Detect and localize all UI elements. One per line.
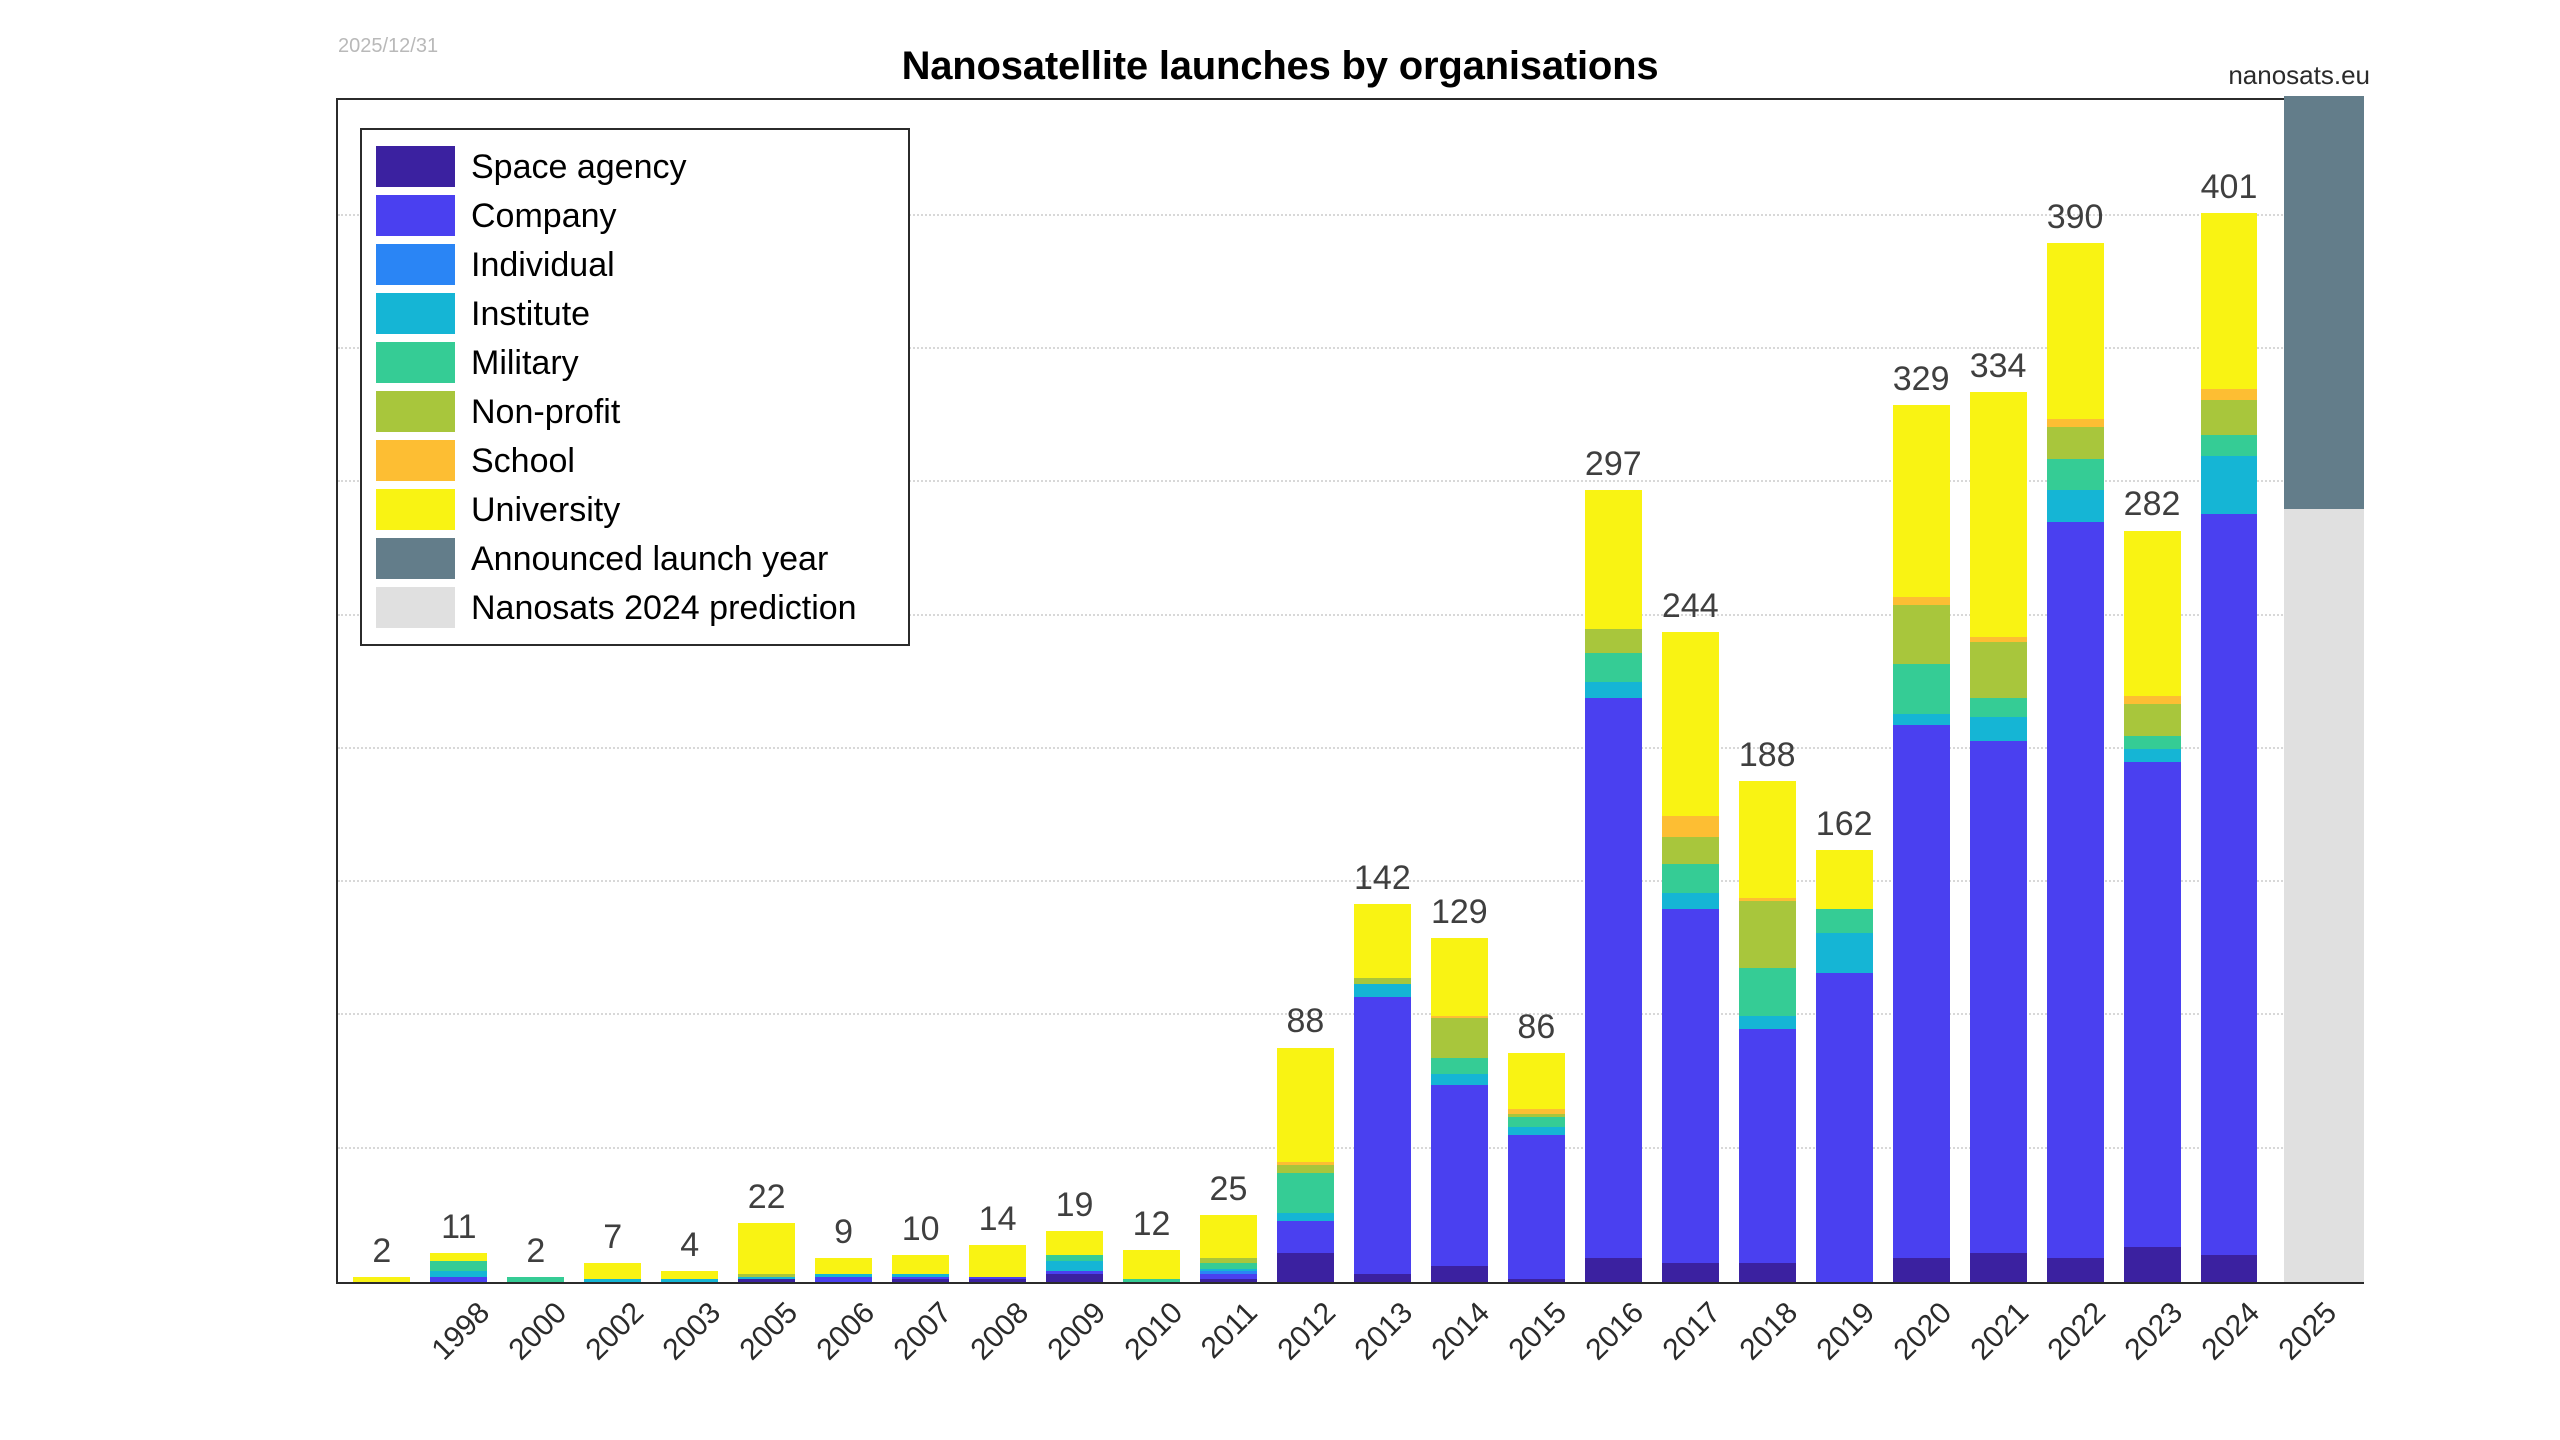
segment-university [1431, 938, 1488, 1015]
x-tick-label-2003: 2003 [656, 1296, 727, 1367]
x-tick-label-2020: 2020 [1888, 1296, 1959, 1367]
segment-institute [584, 1279, 641, 1282]
bar-2005[interactable] [661, 1271, 718, 1282]
chart-root: Nanosatellite launches by organisations … [0, 0, 2560, 1440]
bar-2018[interactable] [1662, 632, 1719, 1282]
segment-institute [1585, 682, 1642, 698]
segment-institute [1508, 1127, 1565, 1135]
x-tick-label-2013: 2013 [1349, 1296, 1420, 1367]
segment-space-agency [1585, 1258, 1642, 1282]
segment-university [1662, 632, 1719, 816]
segment-military [1970, 698, 2027, 717]
bar-total-label: 22 [748, 1178, 786, 1217]
segment-company [1893, 725, 1950, 1258]
legend-item-institute[interactable]: Institute [376, 289, 894, 338]
x-tick-label-2008: 2008 [964, 1296, 1035, 1367]
segment-university [2201, 213, 2258, 389]
legend-label: Individual [471, 248, 615, 282]
bar-total-label: 188 [1739, 736, 1796, 775]
bar-total-label: 14 [979, 1200, 1017, 1239]
segment-non-profit [1739, 901, 1796, 968]
bar-2003[interactable] [584, 1263, 641, 1282]
x-tick-label-2012: 2012 [1272, 1296, 1343, 1367]
segment-military [1739, 968, 1796, 1016]
x-tick-label-2023: 2023 [2119, 1296, 2190, 1367]
segment-university [1893, 405, 1950, 597]
bar-total-label: 4 [680, 1226, 699, 1265]
segment-company [1585, 698, 1642, 1258]
segment-space-agency [738, 1279, 795, 1282]
bar-2000[interactable] [430, 1253, 487, 1282]
segment-company [1662, 909, 1719, 1263]
segment-space-agency [1277, 1253, 1334, 1282]
legend-swatch-icon [376, 146, 455, 187]
segment-military [1123, 1279, 1180, 1282]
bar-total-label: 2 [372, 1232, 391, 1271]
legend-item-company[interactable]: Company [376, 191, 894, 240]
bar-total-label: 282 [2124, 485, 2181, 524]
bar-total-label: 12 [1133, 1205, 1171, 1244]
segment-non-profit [1431, 1018, 1488, 1058]
segment-university [1739, 781, 1796, 898]
bar-total-label: 7 [603, 1218, 622, 1257]
bar-total-label: 390 [2047, 198, 2104, 237]
segment-company [1431, 1085, 1488, 1266]
x-tick-label-2011: 2011 [1194, 1296, 1264, 1366]
bar-2008[interactable] [892, 1255, 949, 1282]
bar-total-label: 297 [1585, 445, 1642, 484]
bar-2025[interactable] [2201, 213, 2258, 1282]
legend-label: University [471, 493, 620, 527]
segment-space-agency [1354, 1274, 1411, 1282]
segment-university [1508, 1053, 1565, 1109]
legend-item-individual[interactable]: Individual [376, 240, 894, 289]
legend-swatch-icon [376, 244, 455, 285]
x-tick-label-2018: 2018 [1734, 1296, 1805, 1367]
segment-space-agency [1200, 1279, 1257, 1282]
segment-institute [1970, 717, 2027, 741]
segment-company [815, 1277, 872, 1282]
segment-space-agency [1970, 1253, 2027, 1282]
segment-space-agency [1046, 1274, 1103, 1282]
y-axis: Nanosatellites 050100150200250300350400 [0, 0, 336, 1440]
bar-total-label: 2 [526, 1232, 545, 1271]
segment-school [1662, 816, 1719, 837]
segment-school [2047, 419, 2104, 427]
segment-university [2047, 243, 2104, 419]
segment-institute [1354, 984, 1411, 997]
legend-item-military[interactable]: Military [376, 338, 894, 387]
segment-non-profit [1662, 837, 1719, 864]
segment-university [584, 1263, 641, 1279]
x-tick-label-2022: 2022 [2042, 1296, 2113, 1367]
bar-total-label: 25 [1210, 1170, 1248, 1209]
x-tick-label-2006: 2006 [810, 1296, 881, 1367]
bar-total-label: 334 [1970, 347, 2027, 386]
segment-military [1816, 909, 1873, 933]
bar-total-label: 162 [1816, 805, 1873, 844]
segment-university [2124, 531, 2181, 696]
segment-military [2201, 435, 2258, 456]
segment-institute [2124, 749, 2181, 762]
bar-1998[interactable] [353, 1277, 410, 1282]
segment-institute [1816, 933, 1873, 973]
segment-non-profit [1970, 642, 2027, 698]
bar-total-label: 19 [1056, 1186, 1094, 1225]
segment-school [1893, 597, 1950, 605]
legend-swatch-icon [376, 391, 455, 432]
bar-2010[interactable] [1046, 1231, 1103, 1282]
segment-non-profit [2201, 400, 2258, 435]
x-tick-label-2005: 2005 [733, 1296, 804, 1367]
bar-total-label: 88 [1287, 1002, 1325, 1041]
segment-military [507, 1277, 564, 1282]
bar-2011[interactable] [1123, 1250, 1180, 1282]
segment-company [2201, 514, 2258, 1255]
segment-non-profit [2047, 427, 2104, 459]
segment-institute [2201, 456, 2258, 515]
segment-military [2047, 459, 2104, 491]
segment-university [1816, 850, 1873, 909]
legend-swatch-icon [376, 538, 455, 579]
segment-company [1354, 997, 1411, 1274]
legend-label: Non-profit [471, 395, 620, 429]
segment-university [1046, 1231, 1103, 1255]
x-tick-label-2017: 2017 [1657, 1296, 1728, 1367]
bar-2016[interactable] [1508, 1053, 1565, 1282]
segment-university [1123, 1250, 1180, 1279]
legend-swatch-icon [376, 342, 455, 383]
segment-university [1585, 490, 1642, 629]
segment-university [1970, 392, 2027, 637]
x-tick-label-1998: 1998 [425, 1296, 496, 1367]
x-tick-label-2014: 2014 [1426, 1296, 1497, 1367]
bar-2024[interactable] [2124, 531, 2181, 1283]
bar-2015[interactable] [1431, 938, 1488, 1282]
bar-2020[interactable] [1816, 850, 1873, 1282]
segment-space-agency [892, 1279, 949, 1282]
announced-launch-year-column [2284, 96, 2364, 509]
segment-company [1277, 1221, 1334, 1253]
x-axis: 1998200020022003200520062007200820092010… [336, 1290, 2364, 1440]
segment-military [2124, 736, 2181, 749]
segment-school [2124, 696, 2181, 704]
bar-total-label: 129 [1431, 893, 1488, 932]
segment-university [815, 1258, 872, 1274]
segment-company [1816, 973, 1873, 1282]
segment-military [1585, 653, 1642, 682]
segment-space-agency [1508, 1279, 1565, 1282]
segment-university [661, 1271, 718, 1279]
segment-university [892, 1255, 949, 1274]
bar-2007[interactable] [815, 1258, 872, 1282]
segment-institute [661, 1279, 718, 1282]
x-tick-label-2021: 2021 [1965, 1296, 2036, 1367]
segment-university [738, 1223, 795, 1274]
legend-label: Announced launch year [471, 542, 828, 576]
segment-institute [1893, 714, 1950, 725]
legend-item-nanosats-2024-prediction[interactable]: Nanosats 2024 prediction [376, 583, 894, 632]
bar-total-label: 10 [902, 1210, 940, 1249]
x-tick-label-2019: 2019 [1811, 1296, 1882, 1367]
segment-company [430, 1277, 487, 1282]
segment-institute [1277, 1213, 1334, 1221]
segment-company [1739, 1029, 1796, 1264]
segment-space-agency [2124, 1247, 2181, 1282]
segment-space-agency [2047, 1258, 2104, 1282]
segment-university [430, 1253, 487, 1261]
watermark-nanosats: nanosats.eu [2228, 60, 2370, 91]
legend-item-announced-launch-year[interactable]: Announced launch year [376, 534, 894, 583]
segment-military [430, 1261, 487, 1272]
segment-institute [1046, 1261, 1103, 1272]
segment-space-agency [1893, 1258, 1950, 1282]
segment-institute [1739, 1016, 1796, 1029]
segment-space-agency [1431, 1266, 1488, 1282]
segment-space-agency [2201, 1255, 2258, 1282]
x-tick-label-2025: 2025 [2273, 1296, 2344, 1367]
segment-university [1354, 904, 1411, 979]
legend-label: Company [471, 199, 617, 233]
x-tick-label-2010: 2010 [1118, 1296, 1189, 1367]
nanosats-prediction-column [2284, 509, 2364, 1282]
legend-item-space-agency[interactable]: Space agency [376, 142, 894, 191]
bar-total-label: 244 [1662, 587, 1719, 626]
segment-company [1970, 741, 2027, 1253]
segment-school [2201, 389, 2258, 400]
date-stamp: 2025/12/31 [338, 35, 438, 58]
x-tick-label-2024: 2024 [2196, 1296, 2267, 1367]
segment-university [969, 1245, 1026, 1277]
legend: Space agencyCompanyIndividualInstituteMi… [360, 128, 910, 646]
legend-swatch-icon [376, 489, 455, 530]
bar-total-label: 11 [441, 1208, 476, 1247]
segment-military [1893, 664, 1950, 715]
bar-2021[interactable] [1893, 405, 1950, 1282]
segment-space-agency [1662, 1263, 1719, 1282]
bar-2002[interactable] [507, 1277, 564, 1282]
legend-swatch-icon [376, 587, 455, 628]
segment-university [1200, 1215, 1257, 1258]
x-tick-label-2007: 2007 [887, 1296, 958, 1367]
segment-company [1508, 1135, 1565, 1279]
segment-company [2047, 522, 2104, 1258]
segment-institute [2047, 490, 2104, 522]
segment-non-profit [1277, 1165, 1334, 1173]
legend-label: School [471, 444, 575, 478]
bar-total-label: 9 [834, 1213, 853, 1252]
bar-total-label: 401 [2201, 168, 2258, 207]
bar-2013[interactable] [1277, 1048, 1334, 1282]
segment-military [1431, 1058, 1488, 1074]
bar-total-label: 329 [1893, 360, 1950, 399]
segment-non-profit [1585, 629, 1642, 653]
legend-swatch-icon [376, 293, 455, 334]
x-tick-label-2015: 2015 [1503, 1296, 1574, 1367]
bar-2014[interactable] [1354, 904, 1411, 1282]
segment-space-agency [969, 1279, 1026, 1282]
segment-military [1508, 1117, 1565, 1128]
legend-item-university[interactable]: University [376, 485, 894, 534]
segment-military [1662, 864, 1719, 893]
segment-non-profit [1893, 605, 1950, 664]
legend-item-school[interactable]: School [376, 436, 894, 485]
bar-2006[interactable] [738, 1223, 795, 1282]
legend-label: Space agency [471, 150, 687, 184]
legend-item-non-profit[interactable]: Non-profit [376, 387, 894, 436]
segment-university [353, 1277, 410, 1282]
x-tick-label-2002: 2002 [579, 1296, 650, 1367]
segment-military [1277, 1173, 1334, 1213]
x-tick-label-2016: 2016 [1580, 1296, 1651, 1367]
bar-2019[interactable] [1739, 781, 1796, 1282]
x-tick-label-2000: 2000 [502, 1296, 573, 1367]
segment-company [2124, 762, 2181, 1247]
legend-swatch-icon [376, 195, 455, 236]
bar-total-label: 142 [1354, 859, 1411, 898]
legend-label: Nanosats 2024 prediction [471, 591, 857, 625]
bar-2009[interactable] [969, 1245, 1026, 1282]
legend-label: Military [471, 346, 579, 380]
segment-institute [1431, 1074, 1488, 1085]
bar-2022[interactable] [1970, 392, 2027, 1282]
x-tick-label-2009: 2009 [1041, 1296, 1112, 1367]
bar-total-label: 86 [1517, 1008, 1555, 1047]
legend-label: Institute [471, 297, 590, 331]
segment-space-agency [1739, 1263, 1796, 1282]
segment-institute [1662, 893, 1719, 909]
bar-2017[interactable] [1585, 490, 1642, 1282]
bar-2012[interactable] [1200, 1215, 1257, 1282]
segment-non-profit [2124, 704, 2181, 736]
legend-swatch-icon [376, 440, 455, 481]
bar-2023[interactable] [2047, 243, 2104, 1282]
segment-university [1277, 1048, 1334, 1163]
